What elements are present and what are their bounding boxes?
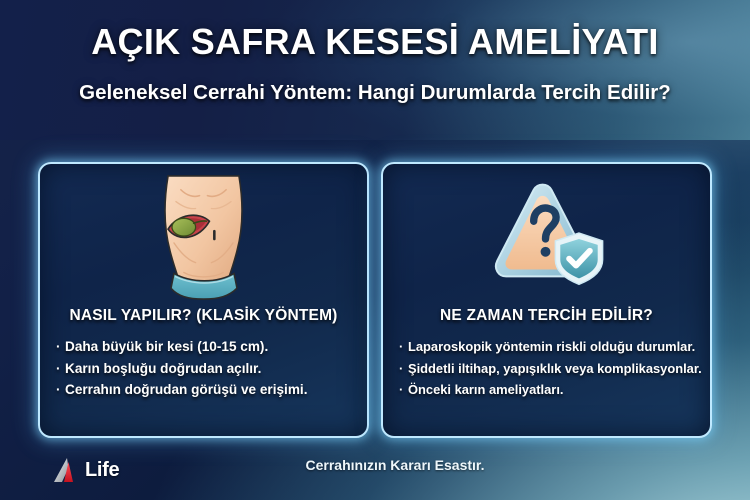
page-subtitle: Geleneksel Cerrahi Yöntem: Hangi Durumla…: [0, 81, 750, 105]
list-item: Laparoskopik yöntemin riskli olduğu duru…: [399, 336, 700, 358]
a-chevron-logo-icon: [52, 457, 84, 483]
card-when-is-it-preferred: NE ZAMAN TERCİH EDİLİR? Laparoskopik yön…: [381, 162, 712, 438]
list-item: Daha büyük bir kesi (10-15 cm).: [56, 336, 357, 358]
list-item: Şiddetli iltihap, yapışıklık veya kompli…: [399, 358, 700, 380]
brand-logo: Life: [52, 457, 119, 483]
card-heading: NE ZAMAN TERCİH EDİLİR?: [389, 307, 704, 325]
abdomen-incision-illustration: [40, 174, 367, 302]
infographic-root: AÇIK SAFRA KESESİ AMELİYATI Geleneksel C…: [0, 0, 750, 500]
header-banner: AÇIK SAFRA KESESİ AMELİYATI Geleneksel C…: [0, 0, 750, 140]
footer-note: Cerrahınızın Kararı Esastır.: [255, 457, 535, 473]
card-bullet-list: Laparoskopik yöntemin riskli olduğu duru…: [399, 336, 700, 401]
list-item: Önceki karın ameliyatları.: [399, 379, 700, 401]
list-item: Karın boşluğu doğrudan açılır.: [56, 358, 357, 380]
page-title: AÇIK SAFRA KESESİ AMELİYATI: [0, 21, 750, 63]
card-heading: NASIL YAPILIR? (KLASİK YÖNTEM): [46, 307, 361, 325]
list-item: Cerrahın doğrudan görüşü ve erişimi.: [56, 379, 357, 401]
logo-text: Life: [85, 459, 119, 482]
card-how-it-is-done: NASIL YAPILIR? (KLASİK YÖNTEM) Daha büyü…: [38, 162, 369, 438]
warning-question-shield-icon: [383, 174, 710, 302]
card-bullet-list: Daha büyük bir kesi (10-15 cm). Karın bo…: [56, 336, 357, 401]
